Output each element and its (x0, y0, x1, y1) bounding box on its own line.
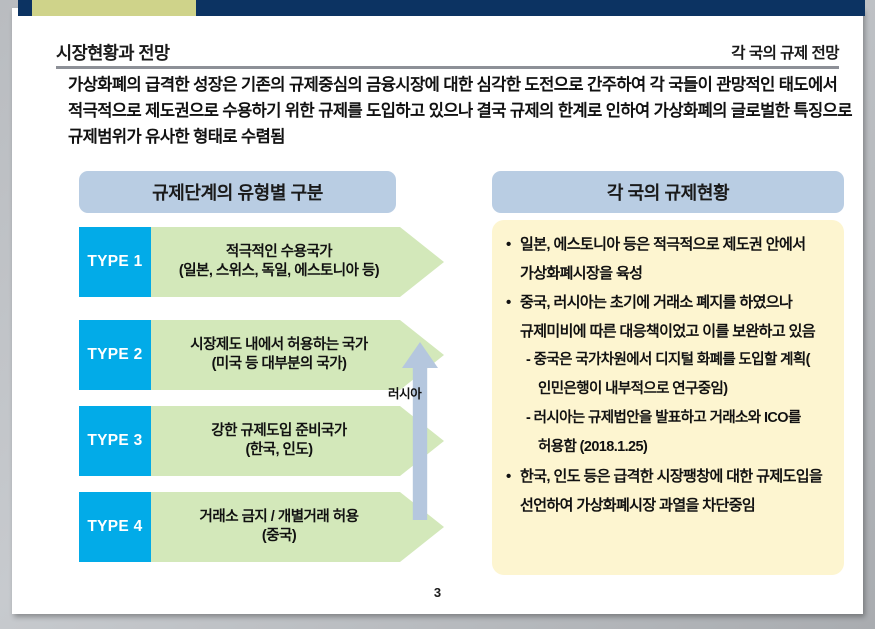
right-panel-header: 각 국의 규제현황 (492, 171, 844, 213)
list-item: • 한국, 인도 등은 급격한 시장팽창에 대한 규제도입을 선언하여 가상화폐… (504, 462, 830, 520)
type-badge: TYPE 1 (79, 227, 151, 297)
type-description-line2: (중국) (262, 527, 296, 546)
bullet-marker: • (506, 230, 511, 259)
band-navy-left (18, 0, 32, 16)
type-description: 거래소 금지 / 개별거래 허용 (중국) (155, 492, 403, 562)
sub-list-item-text: 러시아는 규제법안을 발표하고 거래소와 ICO를 허용함 (2018.1.25… (534, 410, 801, 455)
type-description-line2: (일본, 스위스, 독일, 에스토니아 등) (179, 262, 379, 281)
bullet-marker: • (506, 288, 511, 317)
type-badge: TYPE 4 (79, 492, 151, 562)
type-description: 적극적인 수용국가 (일본, 스위스, 독일, 에스토니아 등) (155, 227, 403, 297)
russia-arrow-label: 러시아 (388, 383, 421, 402)
band-left-pad (0, 0, 18, 16)
slide-frame: 시장현황과 전망 각 국의 규제 전망 가상화폐의 급격한 성장은 기존의 규제… (0, 0, 875, 629)
band-right-pad (865, 0, 875, 16)
band-khaki-segment (32, 0, 196, 16)
type-description-line2: (한국, 인도) (245, 441, 312, 460)
type-description: 시장제도 내에서 허용하는 국가 (미국 등 대부분의 국가) (155, 320, 403, 390)
type-badge: TYPE 2 (79, 320, 151, 390)
regulation-type-diagram: TYPE 1 적극적인 수용국가 (일본, 스위스, 독일, 에스토니아 등) … (12, 8, 472, 614)
type-description-line1: 시장제도 내에서 허용하는 국가 (190, 336, 368, 355)
list-item-text: 한국, 인도 등은 급격한 시장팽창에 대한 규제도입을 선언하여 가상화폐시장… (520, 468, 822, 514)
type-description-line1: 거래소 금지 / 개별거래 허용 (200, 508, 359, 527)
list-item-text: 일본, 에스토니아 등은 적극적으로 제도권 안에서 가상화폐시장을 육성 (520, 236, 805, 282)
list-item-text: 중국, 러시아는 초기에 거래소 폐지를 하였으나 규제미비에 따른 대응책이었… (520, 294, 815, 340)
type-row: TYPE 4 거래소 금지 / 개별거래 허용 (중국) (79, 492, 444, 562)
sub-bullet-marker: - (526, 410, 530, 426)
sub-list-item-text: 중국은 국가차원에서 디지털 화폐를 도입할 계획( 인민은행이 내부적으로 연… (534, 352, 810, 397)
type-description-line1: 적극적인 수용국가 (226, 243, 332, 262)
list-item: • 일본, 에스토니아 등은 적극적으로 제도권 안에서 가상화폐시장을 육성 (504, 230, 830, 288)
sub-bullet-marker: - (526, 352, 530, 368)
regulation-status-card: • 일본, 에스토니아 등은 적극적으로 제도권 안에서 가상화폐시장을 육성 … (492, 220, 844, 575)
type-row: TYPE 1 적극적인 수용국가 (일본, 스위스, 독일, 에스토니아 등) (79, 227, 444, 297)
type-description-line1: 강한 규제도입 준비국가 (211, 422, 346, 441)
type-row: TYPE 3 강한 규제도입 준비국가 (한국, 인도) (79, 406, 444, 476)
bullet-marker: • (506, 462, 511, 491)
sub-list-item: - 중국은 국가차원에서 디지털 화폐를 도입할 계획( 인민은행이 내부적으로… (504, 346, 830, 404)
sub-list-item: - 러시아는 규제법안을 발표하고 거래소와 ICO를 허용함 (2018.1.… (504, 404, 830, 462)
slide-subject: 각 국의 규제 전망 (731, 41, 839, 63)
band-navy-right (196, 0, 865, 16)
type-description-line2: (미국 등 대부분의 국가) (212, 355, 347, 374)
type-badge: TYPE 3 (79, 406, 151, 476)
type-description: 강한 규제도입 준비국가 (한국, 인도) (155, 406, 403, 476)
page-number: 3 (12, 585, 863, 600)
type-row: TYPE 2 시장제도 내에서 허용하는 국가 (미국 등 대부분의 국가) (79, 320, 444, 390)
decorative-top-band (0, 0, 875, 16)
list-item: • 중국, 러시아는 초기에 거래소 폐지를 하였으나 규제미비에 따른 대응책… (504, 288, 830, 346)
slide-canvas: 시장현황과 전망 각 국의 규제 전망 가상화폐의 급격한 성장은 기존의 규제… (12, 8, 863, 614)
